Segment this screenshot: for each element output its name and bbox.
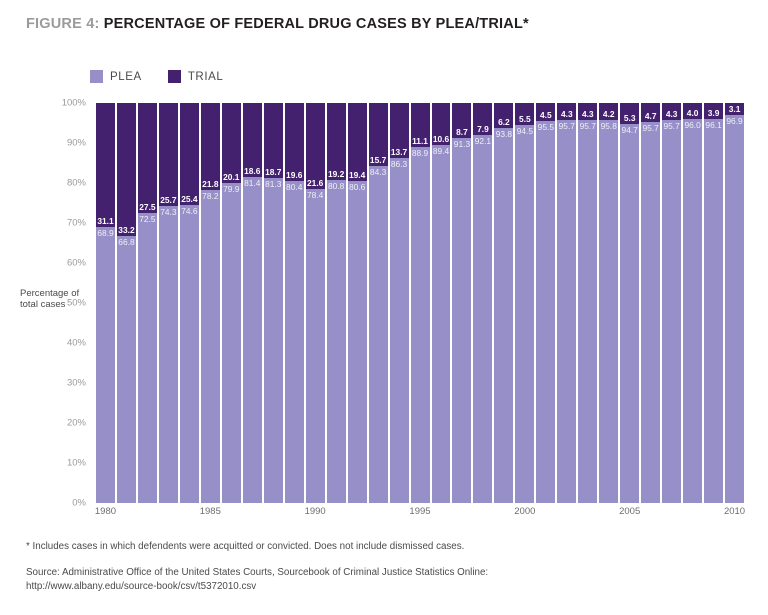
bar-column[interactable]: 4.395.7 [662,103,681,503]
bar-value-plea: 91.3 [452,139,471,149]
legend-swatch-plea [90,70,103,83]
bar-segment-plea[interactable]: 93.8 [494,128,513,503]
y-axis-tick: 40% [67,338,86,349]
bar-segment-plea[interactable]: 80.8 [327,180,346,503]
bar-segment-plea[interactable]: 72.5 [138,213,157,503]
bar-column[interactable]: 11.188.9 [411,103,430,503]
legend-swatch-trial [168,70,181,83]
bar-column[interactable]: 19.280.8 [327,103,346,503]
bar-column[interactable]: 25.774.3 [159,103,178,503]
bar-value-trial: 19.2 [327,169,346,179]
bar-value-plea: 95.7 [578,121,597,131]
bar-value-plea: 74.3 [159,207,178,217]
bar-column[interactable]: 20.179.9 [222,103,241,503]
bar-value-plea: 80.6 [348,182,367,192]
bar-segment-trial[interactable]: 21.6 [306,103,325,189]
bar-value-trial: 4.3 [662,109,681,119]
bar-segment-plea[interactable]: 78.4 [306,189,325,503]
bar-column[interactable]: 4.395.7 [557,103,576,503]
bar-segment-plea[interactable]: 96.1 [704,119,723,503]
bar-value-trial: 7.9 [473,124,492,134]
bar-value-trial: 33.2 [117,225,136,235]
bar-segment-plea[interactable]: 96.0 [683,119,702,503]
bar-segment-trial[interactable]: 27.5 [138,103,157,213]
bar-segment-plea[interactable]: 74.6 [180,205,199,503]
bar-value-trial: 19.6 [285,170,304,180]
x-axis: 1980198519901995200020052010 [96,506,744,522]
bar-segment-trial[interactable]: 25.4 [180,103,199,205]
bar-value-plea: 81.4 [243,178,262,188]
bar-value-trial: 25.7 [159,195,178,205]
x-axis-tick: 2000 [514,506,535,517]
bar-value-trial: 27.5 [138,202,157,212]
bar-segment-plea[interactable]: 81.4 [243,177,262,503]
bar-column[interactable]: 31.168.9 [96,103,115,503]
bar-value-trial: 18.6 [243,166,262,176]
bar-value-plea: 80.4 [285,182,304,192]
source-text: Source: Administrative Office of the Uni… [26,566,736,580]
legend-label-plea: PLEA [110,71,142,83]
bar-value-plea: 89.4 [432,146,451,156]
bar-column[interactable]: 8.791.3 [452,103,471,503]
bar-value-plea: 66.8 [117,237,136,247]
bar-segment-plea[interactable]: 80.4 [285,181,304,503]
y-axis-title: Percentage of total cases [20,288,90,310]
bar-value-plea: 68.9 [96,228,115,238]
bar-value-trial: 20.1 [222,172,241,182]
bar-segment-trial[interactable]: 19.4 [348,103,367,181]
bar-segment-trial[interactable]: 10.6 [432,103,451,145]
bar-segment-plea[interactable]: 95.8 [599,120,618,503]
y-axis-tick: 70% [67,218,86,229]
bar-segment-trial[interactable]: 6.2 [494,103,513,128]
bar-column[interactable]: 19.680.4 [285,103,304,503]
bar-value-plea: 80.8 [327,181,346,191]
bar-value-trial: 15.7 [369,155,388,165]
bar-segment-plea[interactable]: 95.7 [557,120,576,503]
bar-value-trial: 11.1 [411,136,430,146]
bar-value-plea: 72.5 [138,214,157,224]
figure-label: FIGURE 4: [26,16,100,32]
bar-value-plea: 78.2 [201,191,220,201]
bar-value-plea: 74.6 [180,206,199,216]
bar-value-plea: 94.5 [515,126,534,136]
x-axis-tick: 1995 [409,506,430,517]
bar-value-trial: 13.7 [390,147,409,157]
bar-value-trial: 4.2 [599,109,618,119]
bar-column[interactable]: 18.681.4 [243,103,262,503]
bar-segment-trial[interactable]: 4.3 [557,103,576,120]
bar-value-trial: 3.9 [704,108,723,118]
figure-title: PERCENTAGE OF FEDERAL DRUG CASES BY PLEA… [104,16,529,32]
bar-segment-trial[interactable]: 4.3 [662,103,681,120]
bar-segment-trial[interactable]: 8.7 [452,103,471,138]
bar-value-trial: 31.1 [96,216,115,226]
page-title: FIGURE 4: PERCENTAGE OF FEDERAL DRUG CAS… [26,16,746,32]
bar-segment-plea[interactable]: 74.3 [159,206,178,503]
bar-segment-trial[interactable]: 4.7 [641,103,660,122]
bar-value-trial: 18.7 [264,167,283,177]
bar-segment-plea[interactable]: 92.1 [473,135,492,503]
bar-segment-plea[interactable]: 89.4 [432,145,451,503]
legend-label-trial: TRIAL [188,71,224,83]
y-axis-tick: 80% [67,178,86,189]
source-url: http://www.albany.edu/source-book/csv/t5… [26,580,736,594]
bar-segment-plea[interactable]: 95.7 [641,122,660,503]
bar-value-trial: 4.3 [578,109,597,119]
footnote-text: * Includes cases in which defendents wer… [26,540,736,554]
y-axis-tick: 30% [67,378,86,389]
bar-column[interactable]: 21.678.4 [306,103,325,503]
bar-column[interactable]: 13.786.3 [390,103,409,503]
x-axis-tick: 2010 [724,506,745,517]
bar-segment-plea[interactable]: 94.5 [515,125,534,503]
bar-column[interactable]: 15.784.3 [369,103,388,503]
x-axis-tick: 2005 [619,506,640,517]
bar-value-trial: 5.3 [620,113,639,123]
bar-segment-plea[interactable]: 88.9 [411,147,430,503]
bar-value-plea: 93.8 [494,129,513,139]
stacked-bar-group: 31.168.933.266.827.572.525.774.325.474.6… [96,103,744,503]
bar-segment-trial[interactable]: 19.6 [285,103,304,181]
bar-column[interactable]: 33.266.8 [117,103,136,503]
bar-segment-trial[interactable]: 18.6 [243,103,262,177]
bar-segment-trial[interactable]: 3.1 [725,103,744,115]
bar-column[interactable]: 3.196.9 [725,103,744,503]
bar-value-trial: 25.4 [180,194,199,204]
bar-column[interactable]: 6.293.8 [494,103,513,503]
bar-value-trial: 4.7 [641,111,660,121]
bar-segment-plea[interactable]: 86.3 [390,158,409,503]
chart-notes: * Includes cases in which defendents wer… [26,540,736,594]
bar-column[interactable]: 5.394.7 [620,103,639,503]
legend-item-trial[interactable]: TRIAL [168,70,224,83]
bar-value-plea: 79.9 [222,184,241,194]
bar-value-trial: 4.0 [683,108,702,118]
bar-column[interactable]: 21.878.2 [201,103,220,503]
y-axis-tick: 60% [67,258,86,269]
bar-segment-trial[interactable]: 18.7 [264,103,283,178]
bar-segment-plea[interactable]: 78.2 [201,190,220,503]
bar-value-plea: 95.7 [662,121,681,131]
bar-segment-plea[interactable]: 80.6 [348,181,367,503]
bar-column[interactable]: 4.295.8 [599,103,618,503]
bar-value-trial: 8.7 [452,127,471,137]
bar-value-plea: 96.0 [683,120,702,130]
bar-column[interactable]: 27.572.5 [138,103,157,503]
bar-value-trial: 6.2 [494,117,513,127]
bar-column[interactable]: 4.795.7 [641,103,660,503]
bar-segment-trial[interactable]: 25.7 [159,103,178,206]
y-axis-tick: 100% [62,98,86,109]
bar-segment-plea[interactable]: 81.3 [264,178,283,503]
bar-segment-trial[interactable]: 4.0 [683,103,702,119]
bar-segment-plea[interactable]: 79.9 [222,183,241,503]
bar-segment-trial[interactable]: 4.5 [536,103,555,121]
bar-value-plea: 81.3 [264,179,283,189]
bar-segment-plea[interactable]: 91.3 [452,138,471,503]
bar-value-trial: 5.5 [515,114,534,124]
x-axis-tick: 1985 [200,506,221,517]
bar-value-plea: 95.7 [641,123,660,133]
bar-value-trial: 3.1 [725,104,744,114]
bar-column[interactable]: 18.781.3 [264,103,283,503]
bar-value-plea: 92.1 [473,136,492,146]
bar-segment-plea[interactable]: 68.9 [96,227,115,503]
bar-value-plea: 78.4 [306,190,325,200]
bar-segment-trial[interactable]: 4.2 [599,103,618,120]
y-axis-tick: 20% [67,418,86,429]
bar-column[interactable]: 4.395.7 [578,103,597,503]
bar-column[interactable]: 4.096.0 [683,103,702,503]
bar-value-plea: 96.9 [725,116,744,126]
bar-value-trial: 19.4 [348,170,367,180]
bar-value-trial: 4.3 [557,109,576,119]
bar-column[interactable]: 19.480.6 [348,103,367,503]
bar-value-plea: 95.5 [536,122,555,132]
y-axis-tick: 90% [67,138,86,149]
bar-segment-plea[interactable]: 95.7 [578,120,597,503]
bar-segment-plea[interactable]: 95.7 [662,120,681,503]
chart-plot-area: 31.168.933.266.827.572.525.774.325.474.6… [96,103,744,503]
bar-segment-trial[interactable]: 21.8 [201,103,220,190]
bar-value-plea: 95.8 [599,121,618,131]
x-axis-tick: 1980 [95,506,116,517]
y-axis-tick: 10% [67,458,86,469]
bar-segment-trial[interactable]: 5.5 [515,103,534,125]
bar-value-trial: 21.8 [201,179,220,189]
bar-segment-trial[interactable]: 20.1 [222,103,241,183]
bar-column[interactable]: 4.595.5 [536,103,555,503]
bar-value-plea: 84.3 [369,167,388,177]
bar-value-plea: 88.9 [411,148,430,158]
bar-column[interactable]: 25.474.6 [180,103,199,503]
bar-segment-plea[interactable]: 95.5 [536,121,555,503]
bar-segment-plea[interactable]: 96.9 [725,115,744,503]
bar-value-trial: 21.6 [306,178,325,188]
bar-segment-plea[interactable]: 84.3 [369,166,388,503]
bar-segment-trial[interactable]: 4.3 [578,103,597,120]
bar-column[interactable]: 3.996.1 [704,103,723,503]
bar-value-trial: 10.6 [432,134,451,144]
bar-column[interactable]: 5.594.5 [515,103,534,503]
bar-column[interactable]: 10.689.4 [432,103,451,503]
bar-value-plea: 95.7 [557,121,576,131]
bar-segment-plea[interactable]: 94.7 [620,124,639,503]
bar-value-plea: 94.7 [620,125,639,135]
bar-column[interactable]: 7.992.1 [473,103,492,503]
bar-segment-trial[interactable]: 11.1 [411,103,430,147]
bar-value-trial: 4.5 [536,110,555,120]
bar-value-plea: 96.1 [704,120,723,130]
x-axis-tick: 1990 [305,506,326,517]
chart-legend: PLEATRIAL [90,70,223,83]
bar-segment-trial[interactable]: 13.7 [390,103,409,158]
bar-value-plea: 86.3 [390,159,409,169]
bar-segment-plea[interactable]: 66.8 [117,236,136,503]
legend-item-plea[interactable]: PLEA [90,70,142,83]
bar-segment-trial[interactable]: 3.9 [704,103,723,119]
bar-segment-trial[interactable]: 19.2 [327,103,346,180]
bar-segment-trial[interactable]: 7.9 [473,103,492,135]
bar-segment-trial[interactable]: 15.7 [369,103,388,166]
bar-segment-trial[interactable]: 5.3 [620,103,639,124]
bar-segment-trial[interactable]: 33.2 [117,103,136,236]
bar-segment-trial[interactable]: 31.1 [96,103,115,227]
y-axis-tick: 0% [72,498,86,509]
